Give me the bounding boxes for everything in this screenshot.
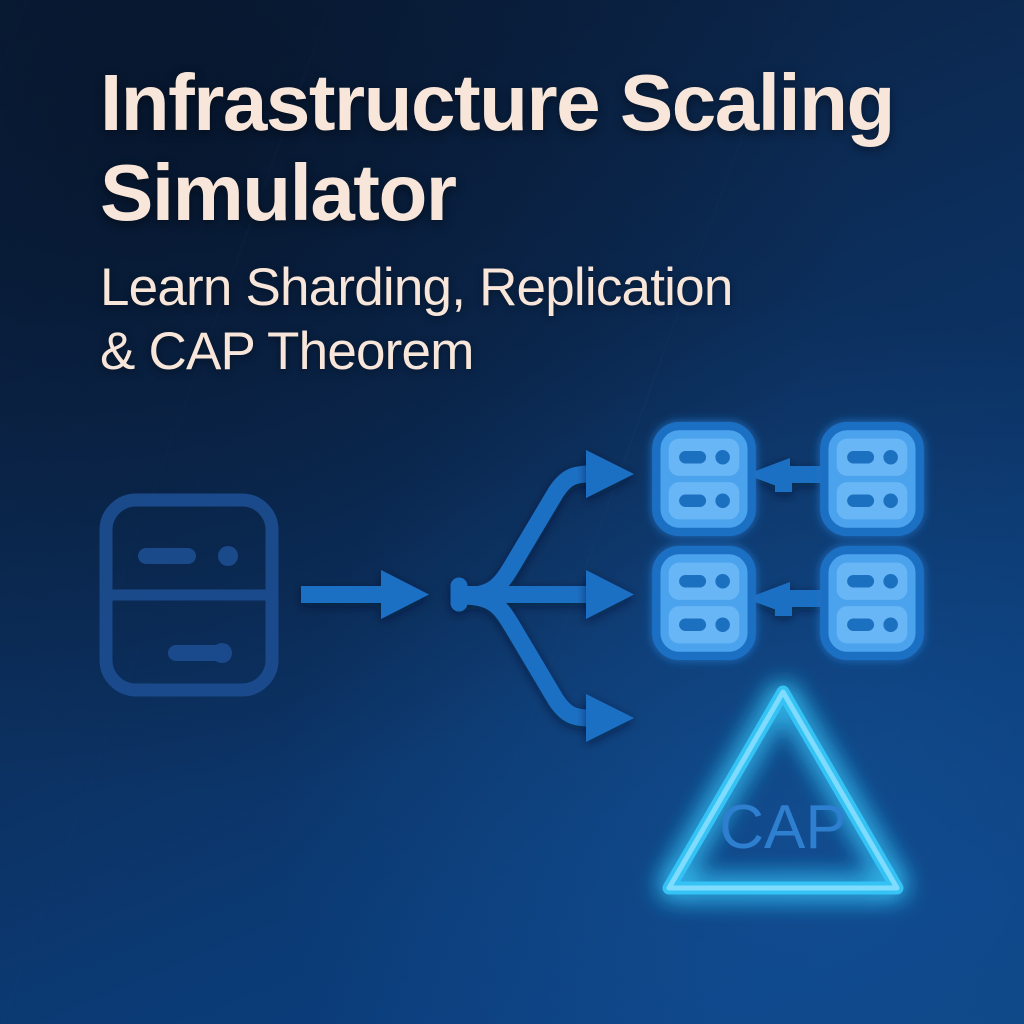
replica-node-2[interactable] <box>824 550 919 656</box>
shard-fanout-arrowheads <box>586 450 634 742</box>
replication-arrow-1 <box>746 458 831 492</box>
primary-node-2[interactable] <box>656 550 751 656</box>
cap-triangle[interactable]: CAP <box>669 692 897 888</box>
replication-arrow-2 <box>746 582 831 616</box>
shard-fanout-arrows <box>459 474 598 718</box>
main-flow-arrow <box>301 570 429 619</box>
cap-triangle-label: CAP <box>719 793 846 862</box>
poster-text-block: Infrastructure Scaling Simulator Learn S… <box>100 58 980 384</box>
source-server-icon <box>106 500 272 690</box>
page-title: Infrastructure Scaling Simulator <box>100 58 980 238</box>
replica-node-1[interactable] <box>824 426 919 532</box>
page-subtitle: Learn Sharding, Replication & CAP Theore… <box>100 256 980 384</box>
poster-canvas: Infrastructure Scaling Simulator Learn S… <box>0 0 1024 1024</box>
primary-node-1[interactable] <box>656 426 751 532</box>
